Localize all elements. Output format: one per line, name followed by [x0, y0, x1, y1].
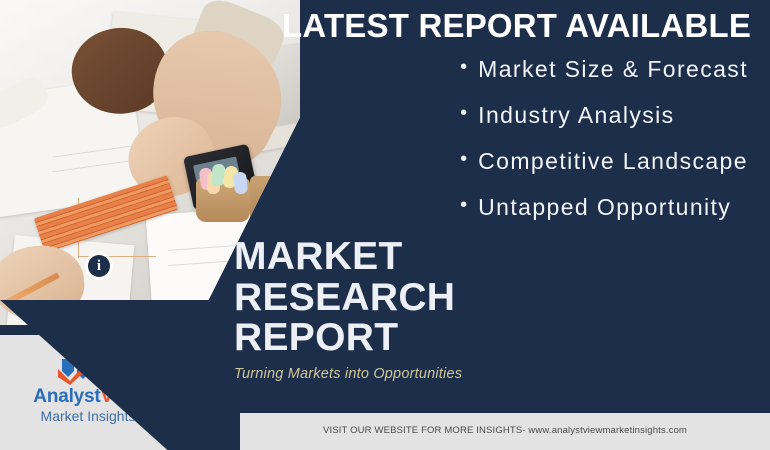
logo-word-analyst: Analyst [33, 386, 100, 407]
analystview-logo-icon [52, 339, 124, 385]
logo-word-view: View [101, 386, 143, 407]
chalk-stick [233, 171, 248, 194]
footer-bar: VISIT OUR WEBSITE FOR MORE INSIGHTS- www… [240, 413, 770, 450]
list-item: Untapped Opportunity [460, 196, 748, 219]
brand-panel: AnalystView Market Insights [0, 335, 248, 450]
info-icon: i [88, 255, 110, 277]
list-item: Industry Analysis [460, 104, 748, 127]
feature-list: Market Size & Forecast Industry Analysis… [460, 58, 748, 219]
report-title-line-3: REPORT [234, 318, 462, 359]
report-title-line-2: RESEARCH [234, 278, 462, 319]
tagline: Turning Markets into Opportunities [234, 366, 462, 382]
blueprint-line [78, 256, 156, 257]
pen-holder [250, 176, 296, 228]
marketing-banner: i AnalystView Market Insights LATEST REP… [0, 0, 770, 450]
logo-subtitle: Market Insights [0, 409, 176, 423]
page-title: LATEST REPORT AVAILABLE [282, 8, 766, 44]
list-item: Competitive Landscape [460, 150, 748, 173]
list-item: Market Size & Forecast [460, 58, 748, 81]
logo-wordmark: AnalystView [0, 387, 176, 406]
report-title-block: MARKET RESEARCH REPORT Turning Markets i… [234, 237, 462, 382]
report-title-line-1: MARKET [234, 237, 462, 278]
logo: AnalystView Market Insights [0, 335, 176, 423]
website-link[interactable]: VISIT OUR WEBSITE FOR MORE INSIGHTS- www… [240, 425, 770, 436]
